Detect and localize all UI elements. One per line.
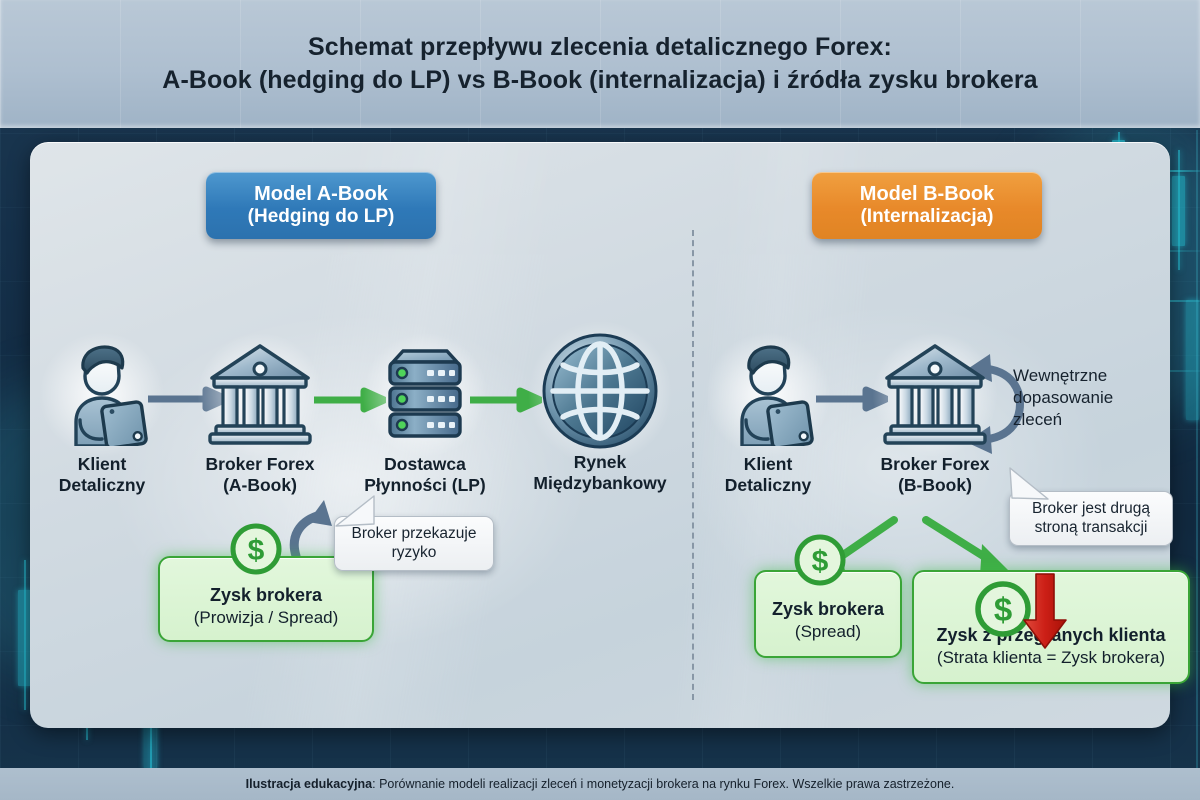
loop-note-line-1: Wewnętrzne (1013, 365, 1163, 387)
loop-note-internal-matching: Wewnętrzne dopasowanie zleceń (1013, 365, 1163, 430)
title-line-1: Schemat przepływu zlecenia detalicznego … (308, 33, 892, 62)
svg-text:$: $ (812, 545, 829, 578)
node-a-lp-label: Dostawca Płynności (LP) (364, 454, 486, 496)
profit-box-a-line-1: Zysk brokera (170, 584, 362, 607)
badge-a-line-1: Model A-Book (228, 182, 414, 206)
profit-box-a-line-2: (Prowizja / Spread) (170, 607, 362, 628)
background-candle-body (1172, 176, 1185, 246)
profit-box-b-spread-line-1: Zysk brokera (764, 598, 892, 621)
loop-note-line-2: dopasowanie (1013, 387, 1163, 409)
node-b-broker-label: Broker Forex (B-Book) (881, 454, 990, 496)
red-down-arrow-icon (1022, 572, 1068, 657)
callout-b-line-2: stroną transakcji (1021, 518, 1161, 537)
title-line-2: A-Book (hedging do LP) vs B-Book (intern… (162, 66, 1037, 95)
background-axis (1196, 130, 1198, 770)
dollar-coin-icon: $ (228, 521, 284, 582)
footer-caption-label: Ilustracja edukacyjna (246, 777, 372, 791)
footer-caption-text: : Porównanie modeli realizacji zleceń i … (372, 777, 954, 791)
node-b-client-label: Klient Detaliczny (725, 454, 812, 496)
badge-model-b-book[interactable]: Model B-Book (Internalizacja) (812, 172, 1042, 239)
footer-bar: Ilustracja edukacyjna: Porównanie modeli… (0, 768, 1200, 800)
bank-broker-icon (206, 338, 314, 450)
badge-model-a-book[interactable]: Model A-Book (Hedging do LP) (206, 172, 436, 239)
node-a-market-label: Rynek Międzybankowy (533, 452, 666, 494)
badge-a-line-2: (Hedging do LP) (228, 206, 414, 229)
svg-text:$: $ (994, 591, 1012, 628)
profit-box-b-spread-line-2: (Spread) (764, 621, 892, 642)
node-a-market[interactable]: Rynek Międzybankowy (520, 332, 680, 494)
dollar-coin-icon: $ (792, 532, 848, 593)
page-title: Schemat przepływu zlecenia detalicznego … (0, 0, 1200, 128)
node-a-client-label: Klient Detaliczny (59, 454, 146, 496)
globe-icon (541, 332, 659, 450)
callout-b-tail (1008, 466, 1054, 507)
server-stack-icon (377, 338, 473, 450)
badge-b-line-2: (Internalizacja) (834, 206, 1020, 229)
svg-text:$: $ (248, 534, 265, 567)
retail-client-icon (54, 338, 150, 450)
retail-client-icon (720, 338, 816, 450)
loop-note-line-3: zleceń (1013, 409, 1163, 431)
footer-caption: Ilustracja edukacyjna: Porównanie modeli… (246, 777, 955, 791)
infographic-canvas: Schemat przepływu zlecenia detalicznego … (0, 0, 1200, 800)
badge-b-line-1: Model B-Book (834, 182, 1020, 206)
callout-a-line-2: ryzyko (346, 543, 482, 562)
node-a-broker-label: Broker Forex (A-Book) (206, 454, 315, 496)
callout-a-tail (330, 494, 376, 533)
bank-broker-icon (881, 338, 989, 450)
